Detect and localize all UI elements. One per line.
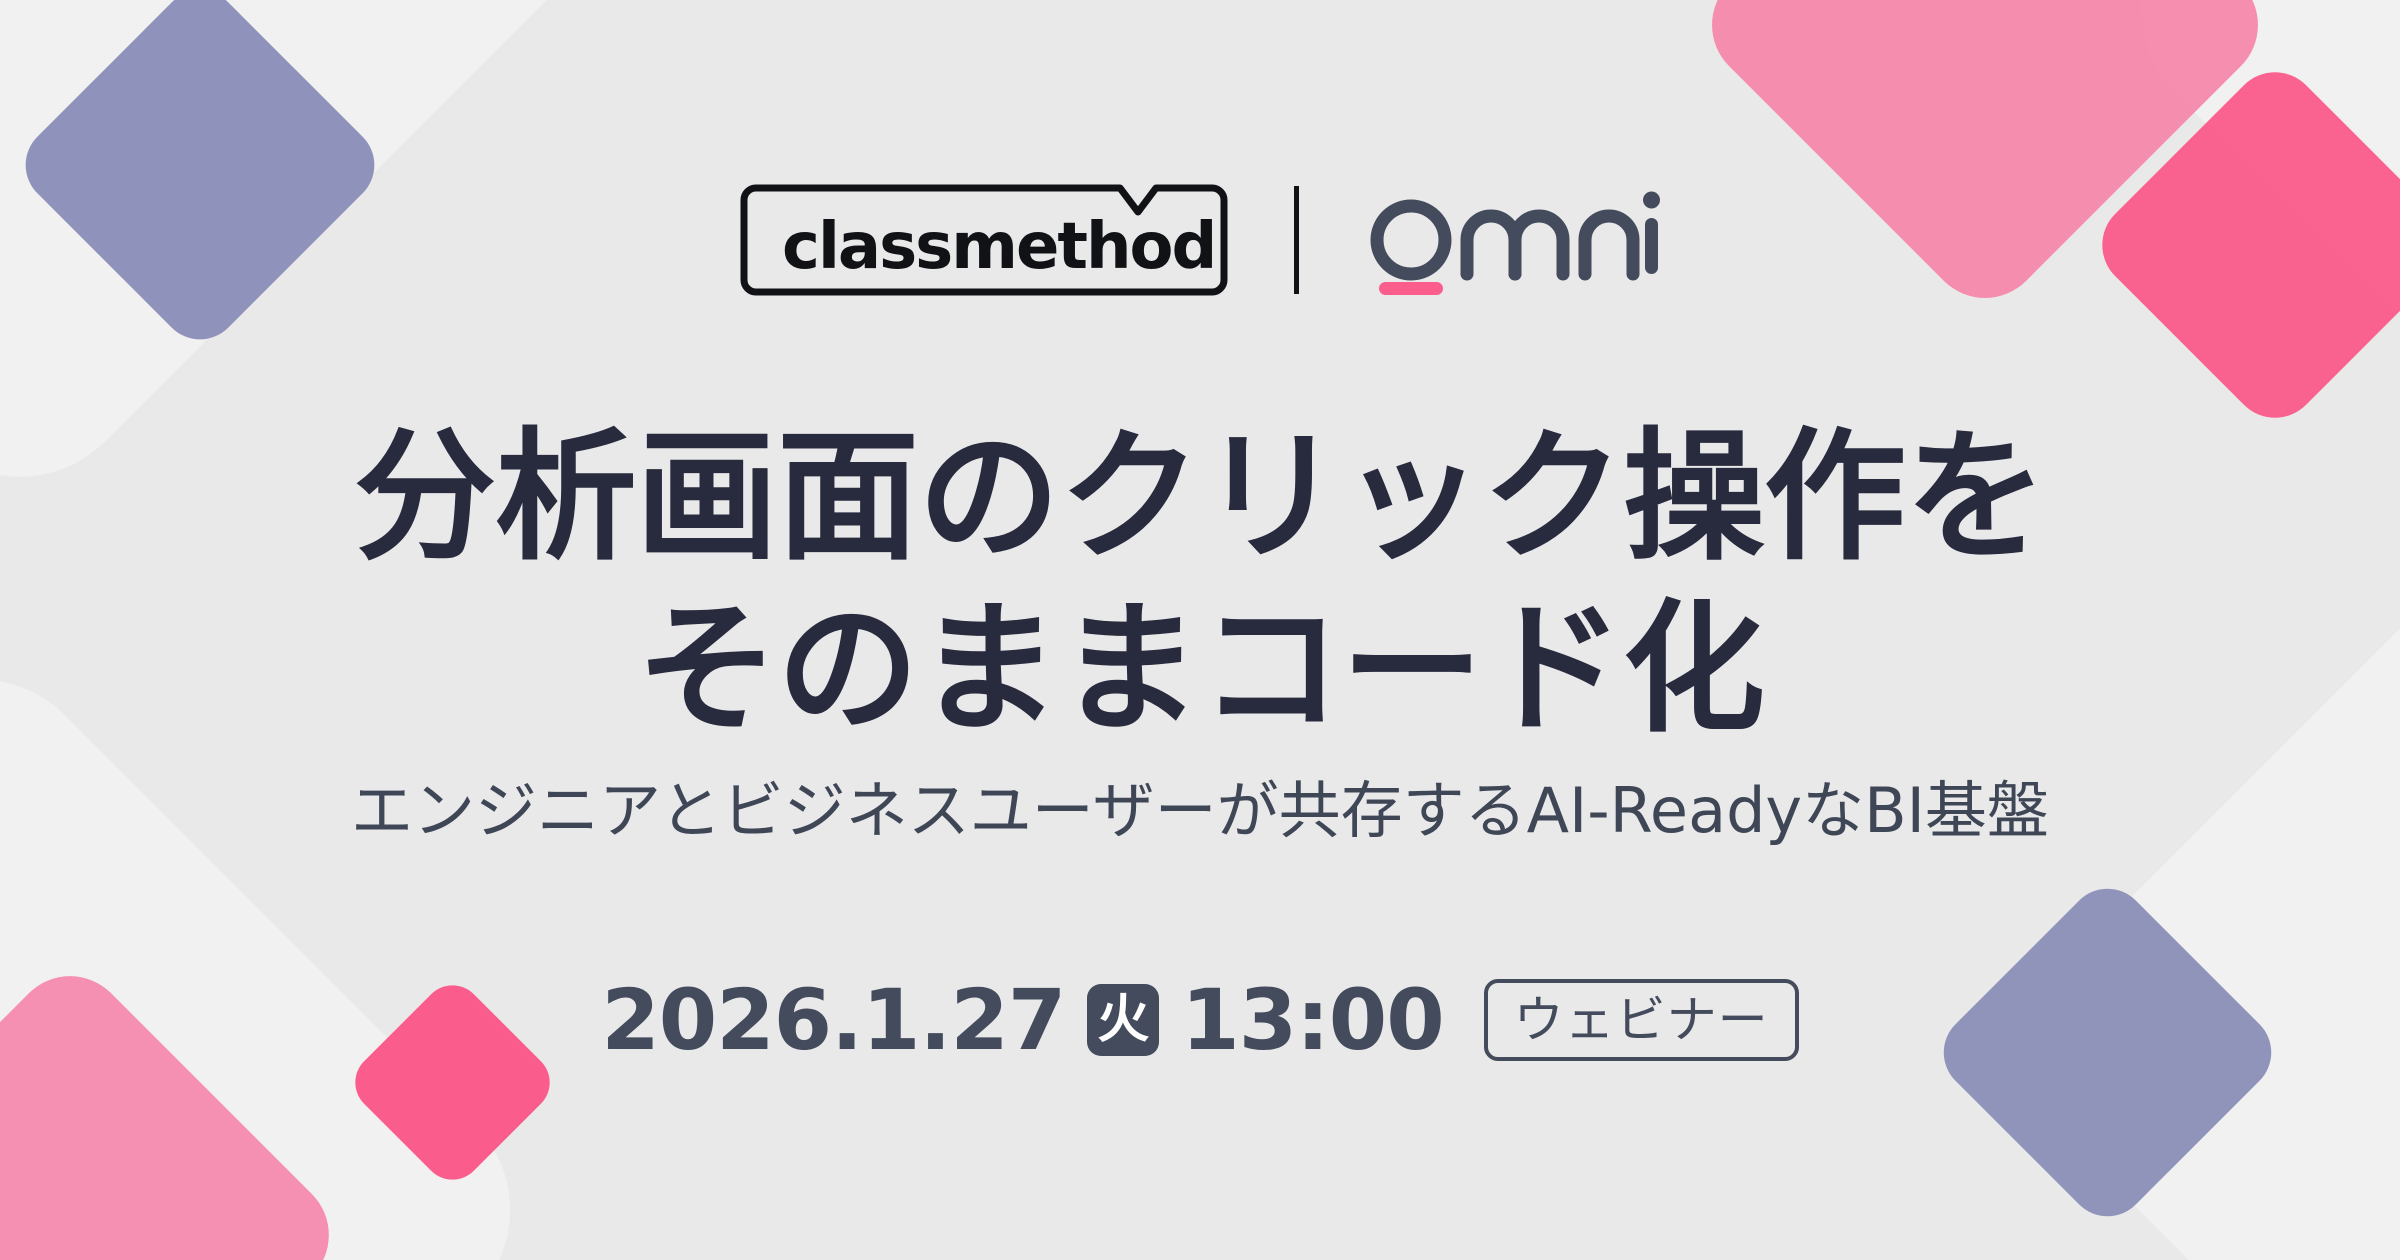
classmethod-logo: classmethod [738, 182, 1230, 298]
banner-content: classmethod [0, 0, 2400, 1260]
classmethod-logo-icon: classmethod [738, 182, 1230, 298]
omni-logo-icon [1363, 182, 1663, 298]
event-date: 2026.1.27 [601, 972, 1065, 1068]
title-line-1: 分析画面のクリック操作を [0, 412, 2400, 584]
svg-text:classmethod: classmethod [782, 210, 1215, 284]
logo-divider [1294, 186, 1299, 294]
omni-accent-underline [1379, 282, 1443, 295]
logo-row: classmethod [0, 182, 2400, 298]
event-format-badge: ウェビナー [1484, 979, 1799, 1061]
webinar-banner: classmethod [0, 0, 2400, 1260]
event-time: 13:00 [1181, 972, 1443, 1068]
title-line-2: そのままコード化 [0, 584, 2400, 756]
page-title: 分析画面のクリック操作を そのままコード化 [0, 412, 2400, 756]
weekday-badge: 火 [1087, 984, 1159, 1056]
page-subtitle: エンジニアとビジネスユーザーが共存するAI-ReadyなBI基盤 [0, 772, 2400, 850]
omni-logo [1363, 182, 1663, 298]
event-datetime-row: 2026.1.27 火 13:00 ウェビナー [0, 972, 2400, 1068]
